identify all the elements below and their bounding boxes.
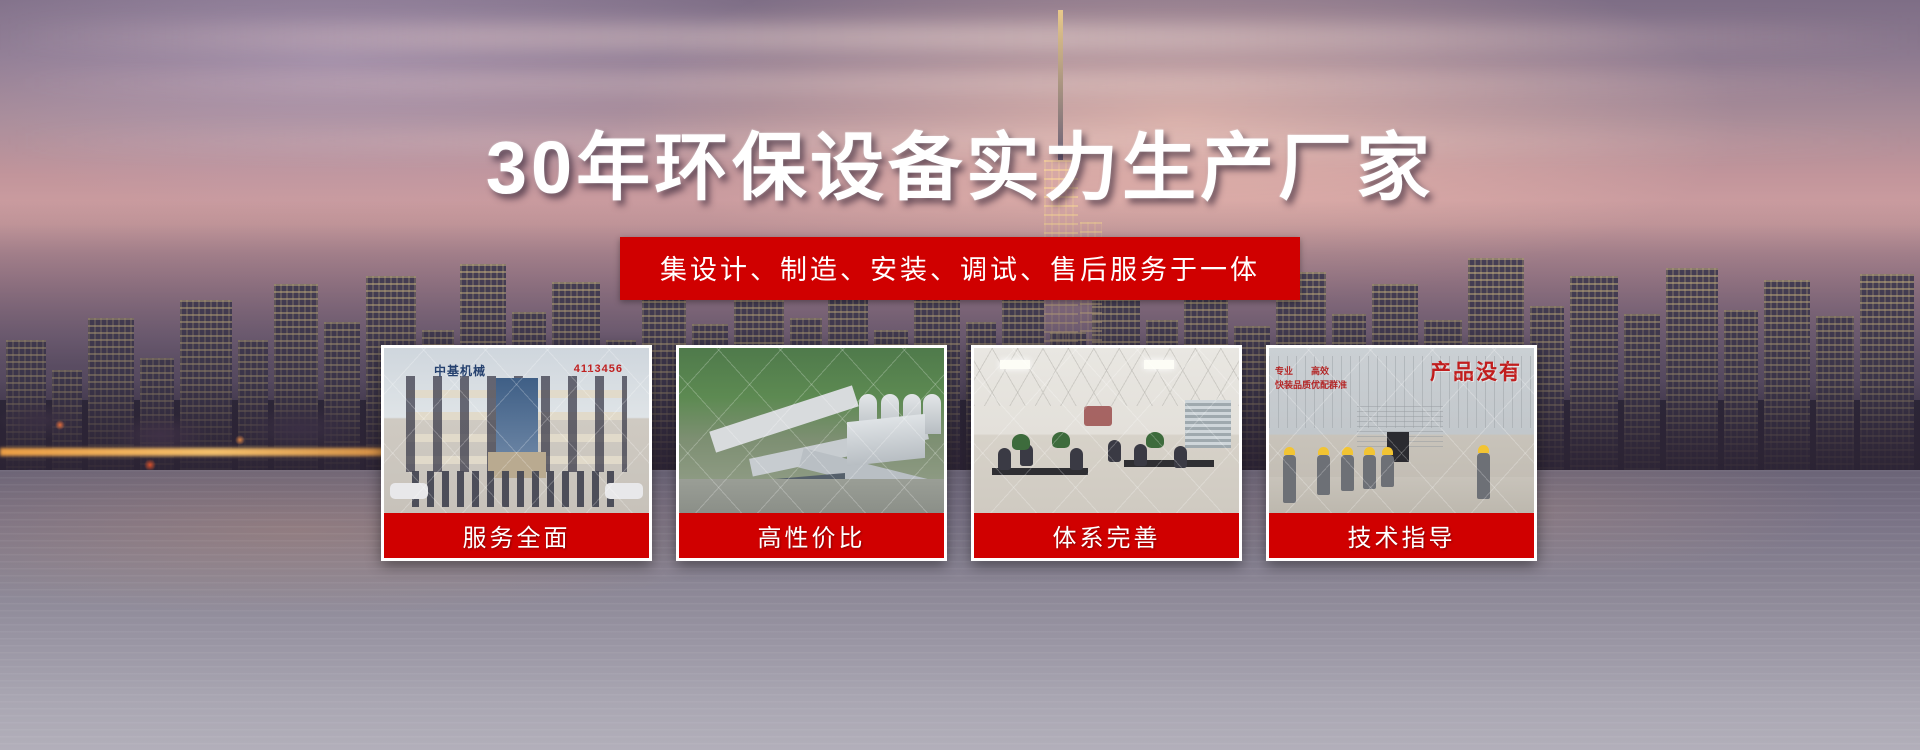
feature-card[interactable]: 体系完善 (971, 345, 1242, 561)
page-title: 30年环保设备实力生产厂家 (0, 108, 1920, 215)
aerial-industrial-plant-photo (679, 348, 944, 513)
factory-wall-small-text: 快装品质 (1275, 380, 1311, 391)
subtitle-banner: 集设计、制造、安装、调试、售后服务于一体 (620, 237, 1300, 300)
feature-card[interactable]: 高性价比 (676, 345, 947, 561)
feature-card-label: 技术指导 (1269, 513, 1534, 558)
factory-workers-training-photo: 产品没有 专业 高效 快装品质 优配群准 (1269, 348, 1534, 513)
company-headquarters-building-photo: 中基机械 4113456 (384, 348, 649, 513)
building-phone-text: 4113456 (574, 363, 623, 375)
feature-card-label: 体系完善 (974, 513, 1239, 558)
feature-card-list: 中基机械 4113456 服务全面 (381, 345, 1537, 561)
feature-card[interactable]: 中基机械 4113456 服务全面 (381, 345, 652, 561)
factory-wall-small-text: 优配群准 (1311, 380, 1347, 391)
building-sign-text: 中基机械 (434, 362, 486, 379)
factory-wall-small-text: 高效 (1311, 366, 1329, 377)
office-interior-staff-photo (974, 348, 1239, 513)
feature-card-label: 服务全面 (384, 513, 649, 558)
feature-card-label: 高性价比 (679, 513, 944, 558)
factory-wall-small-text: 专业 (1275, 366, 1293, 377)
hero-banner: 30年环保设备实力生产厂家 集设计、制造、安装、调试、售后服务于一体 中基机械 … (0, 0, 1920, 750)
factory-wall-slogan: 产品没有 (1430, 356, 1522, 386)
feature-card[interactable]: 产品没有 专业 高效 快装品质 优配群准 技术指导 (1266, 345, 1537, 561)
